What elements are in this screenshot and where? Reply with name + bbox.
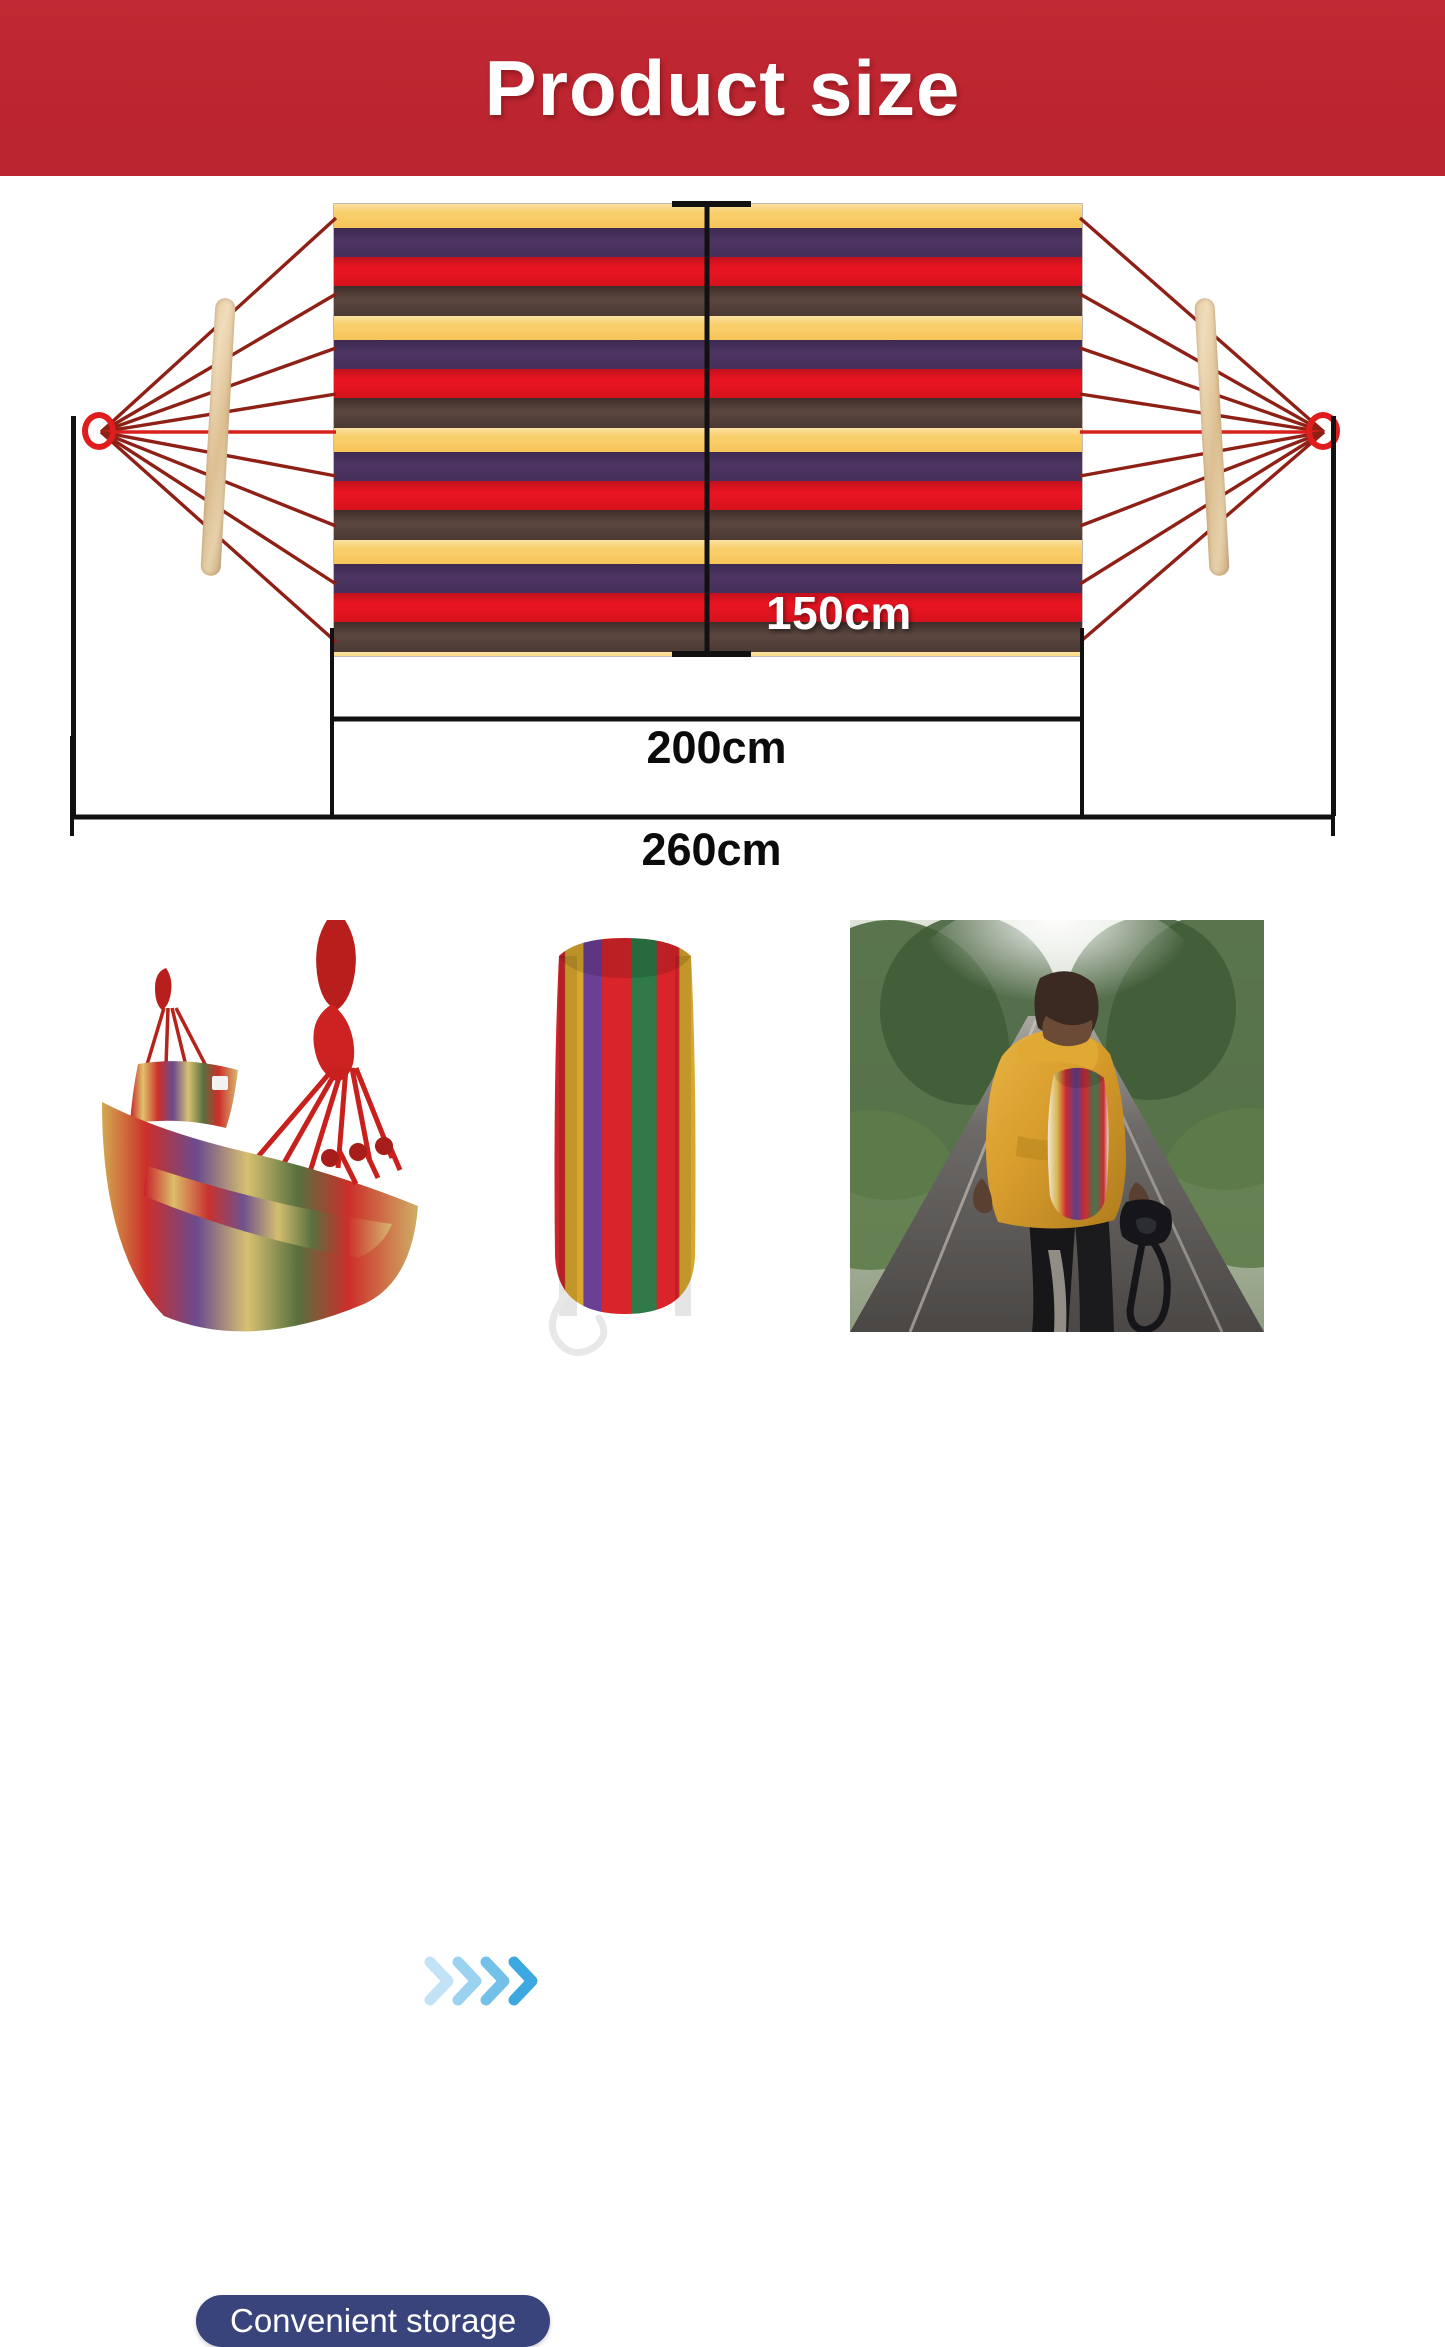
header-banner: Product size: [0, 0, 1445, 176]
stripe-brown: [334, 622, 1082, 652]
hammock-chair-photo: [40, 916, 430, 1346]
stripe-yellow: [334, 316, 1082, 340]
stripe-brown: [334, 510, 1082, 540]
storage-bag-photo: [525, 920, 725, 1360]
measurement-label-260cm: 260cm: [0, 824, 1445, 876]
stripe-yellow: [334, 204, 1082, 228]
road-photo: [850, 920, 1264, 1332]
stripe-yellow: [334, 540, 1082, 564]
hanging-ring-left: [82, 412, 116, 450]
carry-panel: Easy to store and carry: [820, 906, 1445, 1445]
spreader-bar-left: [200, 298, 235, 577]
stripe-brown: [334, 286, 1082, 316]
caption-convenient-storage: Convenient storage: [196, 2295, 550, 2347]
spreader-bar-right: [1194, 298, 1229, 577]
stripe-purple: [334, 564, 1082, 593]
arrow-chevrons: [424, 1936, 554, 2026]
measurement-label-200cm: 200cm: [0, 722, 1445, 774]
stripe-yellow: [334, 652, 1082, 656]
stripe-yellow: [334, 428, 1082, 452]
stripe-red: [334, 593, 1082, 622]
stripe-purple: [334, 340, 1082, 369]
stripe-red: [334, 257, 1082, 286]
measurement-label-150cm: 150cm: [766, 586, 912, 640]
stripe-purple: [334, 452, 1082, 481]
hammock-fabric: [334, 204, 1082, 656]
stripe-red: [334, 369, 1082, 398]
stripe-brown: [334, 398, 1082, 428]
page-title: Product size: [485, 49, 961, 127]
hammock-dimensions-diagram: 150cm 200cm 260cm: [0, 176, 1445, 906]
stripe-purple: [334, 228, 1082, 257]
storage-panel: Convenient storage: [0, 906, 820, 1445]
stripe-red: [334, 481, 1082, 510]
